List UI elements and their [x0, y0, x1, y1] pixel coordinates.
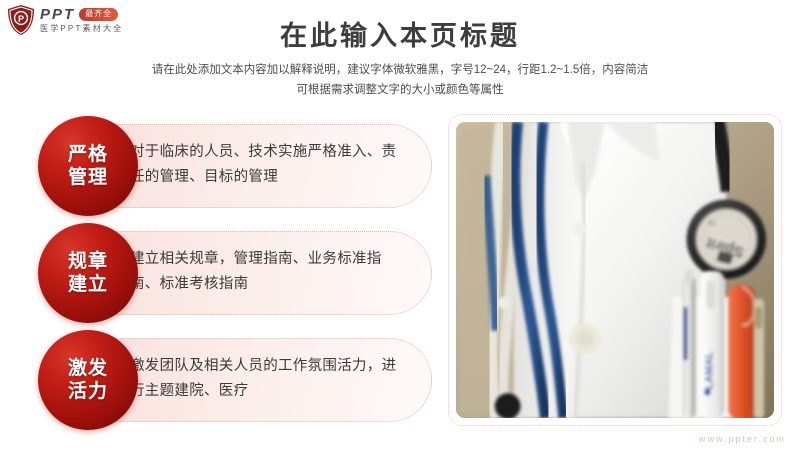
badge-line-1: 严格 — [68, 143, 108, 166]
subtitle-line-1: 请在此处添加文本内容加以解释说明，建议字体微软雅黑，字号12~24，行距1.2~… — [0, 60, 800, 80]
page-title: 在此输入本页标题 — [0, 14, 800, 53]
list-item-text: 建立相关规章，管理指南、业务标准指南、标准考核指南 — [130, 247, 406, 297]
list-item-badge[interactable]: 严格 管理 — [38, 116, 138, 216]
page-subtitle: 请在此处添加文本内容加以解释说明，建议字体微软雅黑，字号12~24，行距1.2~… — [0, 60, 800, 100]
list-item-badge-label: 激发 活力 — [68, 357, 108, 403]
slide-canvas: P PPT 最齐全 医学PPT素材大全 在此输入本页标题 请在此处添加文本内容加… — [0, 0, 800, 450]
doctor-photo: Spirit CE LAMAL — [456, 122, 774, 418]
list-item-badge-label: 严格 管理 — [68, 143, 108, 189]
list-item-badge[interactable]: 激发 活力 — [38, 330, 138, 430]
subtitle-line-2: 可根据需求调整文字的大小或颜色等属性 — [0, 80, 800, 100]
badge-line-1: 激发 — [68, 357, 108, 380]
list-item-text: 激发团队及相关人员的工作氛围活力，进行主题建院、医疗 — [130, 354, 406, 404]
list-item[interactable]: 激发团队及相关人员的工作氛围活力，进行主题建院、医疗 激发 活力 — [20, 330, 432, 428]
feature-list: 对于临床的人员、技术实施严格准入、责任的管理、目标的管理 严格 管理 建立相关规… — [20, 116, 432, 437]
list-item[interactable]: 对于临床的人员、技术实施严格准入、责任的管理、目标的管理 严格 管理 — [20, 116, 432, 214]
footer-watermark: www.ppter.com — [699, 434, 786, 444]
badge-line-2: 建立 — [68, 273, 108, 296]
list-item-text: 对于临床的人员、技术实施严格准入、责任的管理、目标的管理 — [130, 140, 406, 190]
badge-line-1: 规章 — [68, 250, 108, 273]
badge-line-2: 活力 — [68, 380, 108, 403]
photo-frame: Spirit CE LAMAL — [448, 114, 782, 426]
svg-text:LAMAL: LAMAL — [703, 351, 715, 390]
list-item-badge-label: 规章 建立 — [68, 250, 108, 296]
badge-line-2: 管理 — [68, 166, 108, 189]
list-item-badge[interactable]: 规章 建立 — [38, 223, 138, 323]
list-item[interactable]: 建立相关规章，管理指南、业务标准指南、标准考核指南 规章 建立 — [20, 223, 432, 321]
